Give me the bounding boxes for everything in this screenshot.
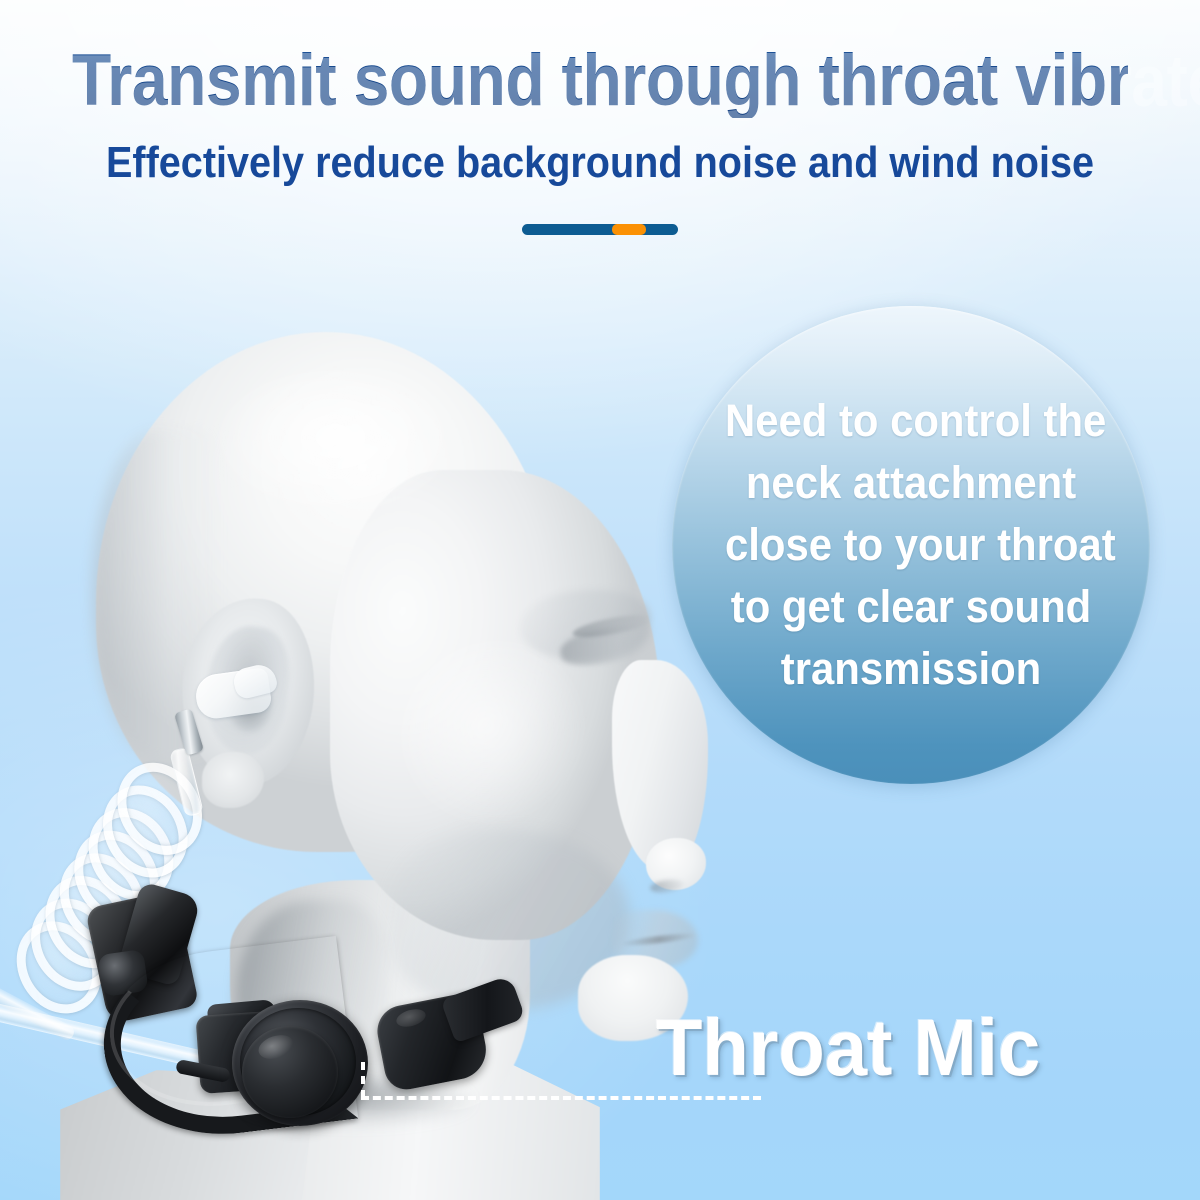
callout-line-5: transmission bbox=[725, 638, 1097, 700]
callout-text: Need to control the neck attachment clos… bbox=[725, 390, 1097, 700]
divider-bar bbox=[522, 224, 678, 235]
product-label: Throat Mic bbox=[656, 1008, 1040, 1088]
leader-line-horizontal bbox=[361, 1096, 761, 1100]
callout-line-4: to get clear sound bbox=[725, 576, 1097, 638]
product-banner: Transmit sound through throat vibrate Ef… bbox=[0, 0, 1200, 1200]
headline: Transmit sound through throat vibrate bbox=[72, 0, 1128, 118]
callout-line-2: neck attachment bbox=[725, 452, 1097, 514]
divider bbox=[0, 224, 1200, 235]
callout-line-3: close to your throat bbox=[725, 514, 1097, 576]
subheadline: Effectively reduce background noise and … bbox=[60, 118, 1140, 186]
header: Transmit sound through throat vibrate Ef… bbox=[0, 0, 1200, 187]
divider-accent-segment bbox=[612, 224, 646, 235]
leader-line-vertical bbox=[361, 1062, 365, 1098]
callout-bubble: Need to control the neck attachment clos… bbox=[672, 306, 1150, 784]
cheek-highlight bbox=[400, 640, 590, 830]
callout-line-1: Need to control the bbox=[725, 390, 1097, 452]
crown-highlight bbox=[210, 370, 460, 520]
